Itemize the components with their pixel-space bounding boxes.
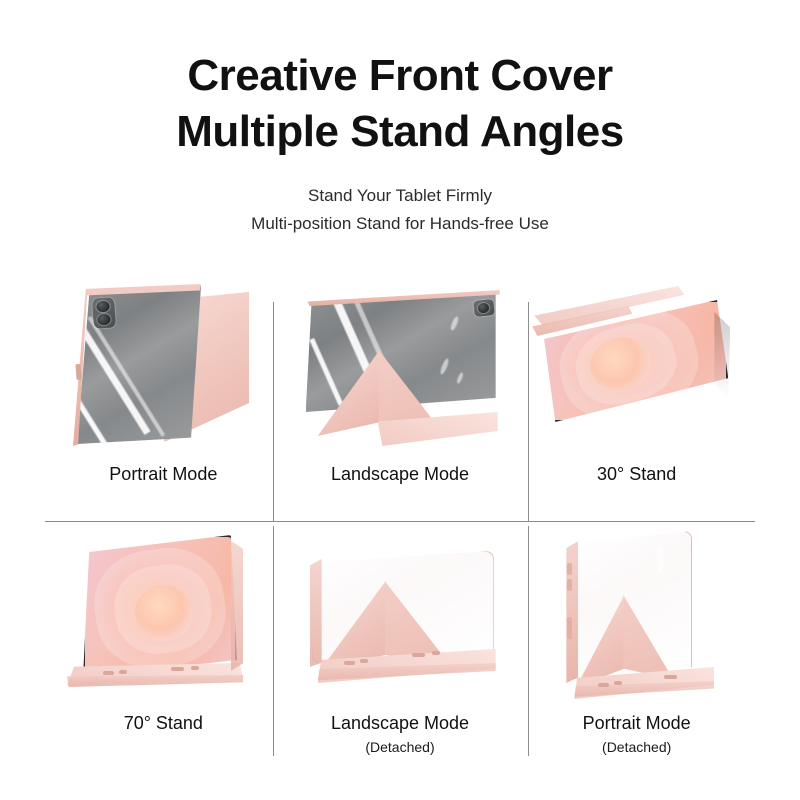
caption-landscape-mode-detached: Landscape Mode (Detached) xyxy=(331,711,469,758)
caption-stand-30: 30° Stand xyxy=(597,462,676,486)
tablet-illustration-portrait-mode xyxy=(45,272,282,458)
headline-line-2: Multiple Stand Angles xyxy=(0,104,800,160)
case-right-rim xyxy=(231,541,243,671)
case-port-1 xyxy=(598,683,609,687)
caption-landscape-mode: Landscape Mode xyxy=(331,462,469,486)
subtitle-line-2: Multi-position Stand for Hands-free Use xyxy=(0,210,800,238)
case-left-rim xyxy=(310,559,322,667)
gloss-highlight-1 xyxy=(449,316,459,332)
grid-cell-landscape-mode: Landscape Mode xyxy=(282,272,519,521)
grid-cell-portrait-mode: Portrait Mode xyxy=(45,272,282,521)
camera-module xyxy=(473,299,495,317)
case-port-2 xyxy=(614,681,622,685)
case-port-1 xyxy=(344,661,355,665)
gloss-streak-2 xyxy=(88,316,166,437)
camera-lens-bottom xyxy=(97,314,111,326)
caption-portrait-mode: Portrait Mode xyxy=(109,462,217,486)
caption-stand-70: 70° Stand xyxy=(124,711,203,735)
caption-main: Portrait Mode xyxy=(583,711,691,735)
tablet-illustration-stand-30 xyxy=(518,272,755,458)
case-port-4 xyxy=(432,651,440,655)
base-port-4 xyxy=(191,666,199,670)
caption-sub: (Detached) xyxy=(583,737,691,758)
product-infographic: Creative Front Cover Multiple Stand Angl… xyxy=(0,0,800,800)
caption-sub: (Detached) xyxy=(331,737,469,758)
caption-main: Landscape Mode xyxy=(331,462,469,486)
caption-main: Portrait Mode xyxy=(109,462,217,486)
caption-main: 30° Stand xyxy=(597,462,676,486)
tablet-illustration-landscape-mode xyxy=(282,272,519,458)
caption-main: Landscape Mode xyxy=(331,711,469,735)
gloss-streak-3 xyxy=(309,338,343,406)
feature-grid: Portrait Mode xyxy=(45,272,755,772)
camera-lens-top xyxy=(96,301,110,313)
base-port-3 xyxy=(171,667,184,671)
subtitle-line-1: Stand Your Tablet Firmly xyxy=(0,182,800,210)
case-port-2 xyxy=(360,659,368,663)
grid-cell-stand-70: 70° Stand xyxy=(45,521,282,772)
side-port xyxy=(75,364,81,380)
case-illustration-portrait-detached xyxy=(518,521,755,707)
case-base-edge xyxy=(67,675,243,689)
case-button-cutout-3 xyxy=(567,617,572,639)
wallpaper-blob-core xyxy=(135,585,193,641)
caption-main: 70° Stand xyxy=(124,711,203,735)
headline-line-1: Creative Front Cover xyxy=(0,48,800,104)
caption-portrait-mode-detached: Portrait Mode (Detached) xyxy=(583,711,691,758)
shell-gloss xyxy=(657,546,664,572)
tablet-illustration-stand-70 xyxy=(45,521,282,707)
case-button-cutout-2 xyxy=(567,579,572,591)
case-port-3 xyxy=(412,653,425,657)
grid-cell-stand-30: 30° Stand xyxy=(518,272,755,521)
header: Creative Front Cover Multiple Stand Angl… xyxy=(0,0,800,238)
case-illustration-landscape-detached xyxy=(282,521,519,707)
screen-edge-shadow xyxy=(714,312,730,398)
base-port-2 xyxy=(119,670,127,674)
grid-cell-landscape-mode-detached: Landscape Mode (Detached) xyxy=(282,521,519,772)
tablet-screen xyxy=(83,535,237,677)
gloss-highlight-2 xyxy=(439,358,450,376)
case-button-cutout-1 xyxy=(567,563,572,575)
camera-lens xyxy=(477,303,489,314)
case-port-3 xyxy=(664,675,677,679)
grid-cell-portrait-mode-detached: Portrait Mode (Detached) xyxy=(518,521,755,772)
gloss-highlight-3 xyxy=(456,372,464,385)
base-port-1 xyxy=(103,671,114,675)
camera-module xyxy=(92,297,116,328)
subtitle-group: Stand Your Tablet Firmly Multi-position … xyxy=(0,182,800,238)
